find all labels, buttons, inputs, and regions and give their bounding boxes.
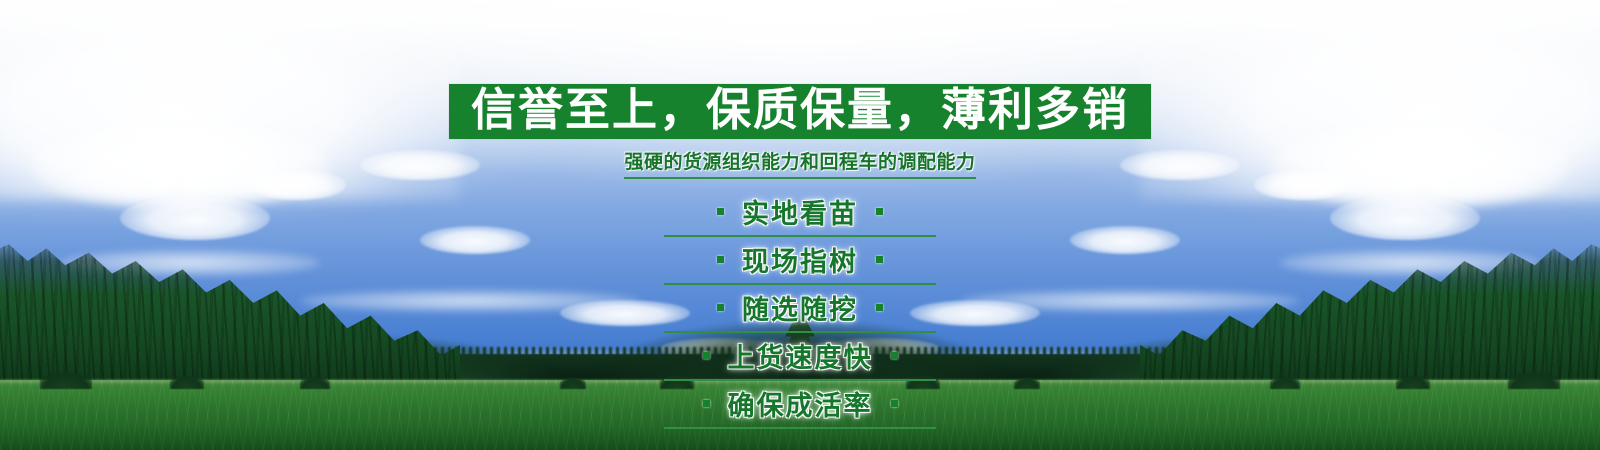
bullet-dot-icon [703,352,710,359]
bush [40,372,92,389]
bush [1270,377,1300,389]
feature-item: 确保成活率 [664,381,936,429]
bush [1396,376,1430,389]
bullet-dot-icon [876,304,883,311]
bullet-dot-icon [717,256,724,263]
subheadline-text: 强硬的货源组织能力和回程车的调配能力 [624,147,975,179]
bush [170,376,204,389]
feature-label: 随选随挖 [742,288,858,327]
bullet-dot-icon [891,400,898,407]
feature-item: 现场指树 [664,237,936,285]
feature-list: 实地看苗 现场指树 随选随挖 上货速度快 确保成活率 [664,189,936,429]
bush [560,378,586,389]
bullet-dot-icon [876,256,883,263]
bullet-dot-icon [891,352,898,359]
bush [300,377,330,389]
feature-label: 确保成活率 [728,384,873,423]
bullet-dot-icon [717,208,724,215]
bullet-dot-icon [703,400,710,407]
headline-text: 信誉至上，保质保量，薄利多销 [471,87,1129,132]
feature-label: 现场指树 [742,240,858,279]
bullet-dot-icon [717,304,724,311]
feature-item: 随选随挖 [664,285,936,333]
bush [1014,378,1040,389]
feature-label: 实地看苗 [742,192,858,231]
headline-banner: 信誉至上，保质保量，薄利多销 [449,84,1151,139]
feature-item: 实地看苗 [664,189,936,237]
bullet-dot-icon [876,208,883,215]
promo-banner: 信誉至上，保质保量，薄利多销 强硬的货源组织能力和回程车的调配能力 实地看苗 现… [0,0,1600,450]
feature-item: 上货速度快 [664,333,936,381]
feature-label: 上货速度快 [728,336,873,375]
bush [1508,372,1560,389]
